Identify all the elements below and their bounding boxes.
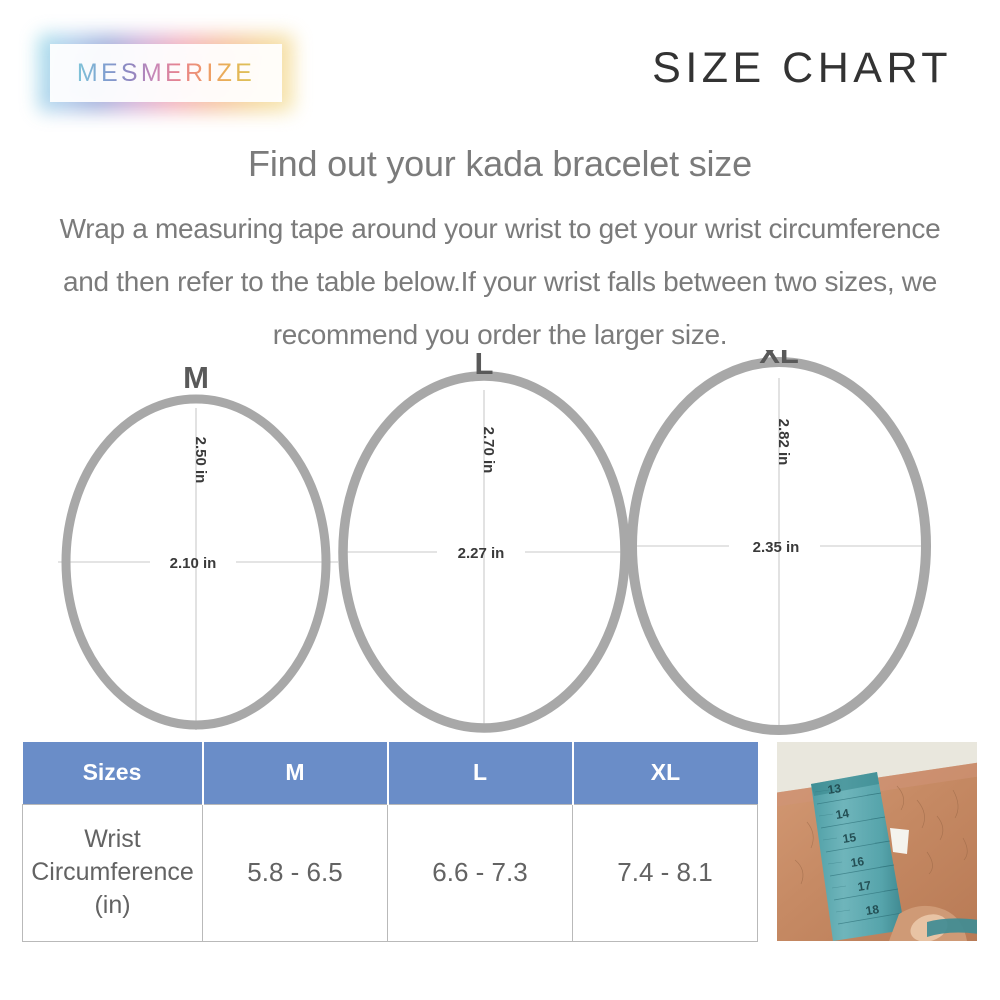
- intro-heading: Find out your kada bracelet size: [0, 140, 1000, 188]
- brand-logo: MESMERIZE: [50, 44, 282, 102]
- cell-wrist-xl: 7.4 - 8.1: [573, 804, 758, 941]
- page-title: SIZE CHART: [652, 44, 952, 93]
- oval-diagram-xl: XL 2.82 in 2.35 in: [632, 350, 930, 734]
- tape-mark-18: 18: [865, 902, 881, 918]
- oval-xl-width-label: 2.35 in: [753, 539, 800, 556]
- row-label-line-2: Circumference: [31, 858, 194, 886]
- table-header-row: Sizes M L XL: [23, 742, 758, 804]
- oval-l-width-label: 2.27 in: [458, 545, 505, 562]
- intro-section: Find out your kada bracelet size Wrap a …: [0, 140, 1000, 361]
- oval-diagram-svg: M 2.50 in 2.10 in L 2.70 in 2.27 in: [0, 350, 1000, 740]
- table-header-xl: XL: [573, 742, 758, 804]
- size-chart-page: MESMERIZE SIZE CHART Find out your kada …: [0, 0, 1000, 1000]
- size-table-body: Wrist Circumference (in) 5.8 - 6.5 6.6 -…: [23, 804, 758, 941]
- oval-xl-height-label: 2.82 in: [775, 419, 792, 466]
- tape-mark-17: 17: [857, 878, 873, 894]
- wrist-measuring-photo: 13 14 15 16 17 18: [777, 742, 977, 941]
- logo-plate: MESMERIZE: [50, 44, 282, 102]
- oval-xl-size-letter: XL: [759, 350, 799, 370]
- intro-body: Wrap a measuring tape around your wrist …: [0, 202, 1000, 361]
- table-header-l: L: [388, 742, 573, 804]
- cell-wrist-m: 5.8 - 6.5: [203, 804, 388, 941]
- table-header-sizes: Sizes: [23, 742, 203, 804]
- table-header-m: M: [203, 742, 388, 804]
- table-row: Wrist Circumference (in) 5.8 - 6.5 6.6 -…: [23, 804, 758, 941]
- oval-m-size-letter: M: [183, 360, 209, 395]
- size-table-head: Sizes M L XL: [23, 742, 758, 804]
- brand-logo-text: MESMERIZE: [77, 59, 255, 88]
- row-label-wrist-circumference: Wrist Circumference (in): [23, 804, 203, 941]
- row-label-line-3: (in): [94, 891, 130, 919]
- oval-l-height-label: 2.70 in: [480, 427, 497, 474]
- page-header: MESMERIZE SIZE CHART: [0, 0, 1000, 130]
- size-table: Sizes M L XL Wrist Circumference (in) 5.…: [22, 742, 758, 942]
- oval-diagram-l: L 2.70 in 2.27 in: [343, 350, 627, 732]
- oval-diagram-m: M 2.50 in 2.10 in: [58, 360, 338, 730]
- tape-mark-14: 14: [835, 806, 851, 822]
- oval-m-width-label: 2.10 in: [170, 555, 217, 572]
- cell-wrist-l: 6.6 - 7.3: [388, 804, 573, 941]
- tape-end-tab: [890, 828, 909, 854]
- tape-mark-15: 15: [842, 830, 858, 846]
- tape-mark-13: 13: [827, 781, 843, 797]
- oval-diagram-group: M 2.50 in 2.10 in L 2.70 in 2.27 in: [0, 350, 1000, 740]
- tape-mark-16: 16: [850, 854, 866, 870]
- wrist-photo-illustration: 13 14 15 16 17 18: [777, 742, 977, 941]
- row-label-line-1: Wrist: [84, 825, 140, 853]
- oval-m-height-label: 2.50 in: [192, 437, 209, 484]
- oval-l-size-letter: L: [475, 350, 494, 381]
